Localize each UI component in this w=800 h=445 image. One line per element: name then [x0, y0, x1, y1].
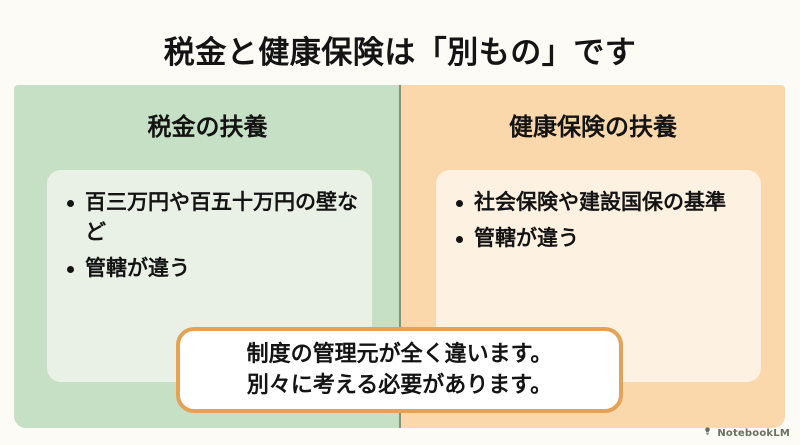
- bullet-list-health-insurance: 社会保険や建設国保の基準 管轄が違う: [452, 188, 747, 254]
- list-item: 百三万円や百五十万円の壁など: [63, 188, 358, 248]
- watermark-label: NotebookLM: [717, 428, 790, 439]
- callout-line-1: 制度の管理元が全く違います。: [247, 339, 553, 370]
- list-item: 管轄が違う: [452, 224, 747, 254]
- list-item: 社会保険や建設国保の基準: [452, 188, 747, 218]
- column-heading-health-insurance: 健康保険の扶養: [401, 107, 785, 142]
- column-heading-tax: 税金の扶養: [14, 107, 401, 142]
- list-item: 管轄が違う: [63, 254, 358, 284]
- conclusion-callout: 制度の管理元が全く違います。 別々に考える必要があります。: [176, 327, 623, 413]
- notebooklm-icon: [702, 426, 713, 440]
- slide-canvas: 税金と健康保険は「別もの」です 税金の扶養 百三万円や百五十万円の壁など 管轄が…: [0, 0, 800, 445]
- watermark: NotebookLM: [702, 426, 790, 440]
- page-title: 税金と健康保険は「別もの」です: [0, 35, 800, 72]
- callout-line-2: 別々に考える必要があります。: [247, 370, 552, 401]
- bullet-list-tax: 百三万円や百五十万円の壁など 管轄が違う: [63, 188, 358, 283]
